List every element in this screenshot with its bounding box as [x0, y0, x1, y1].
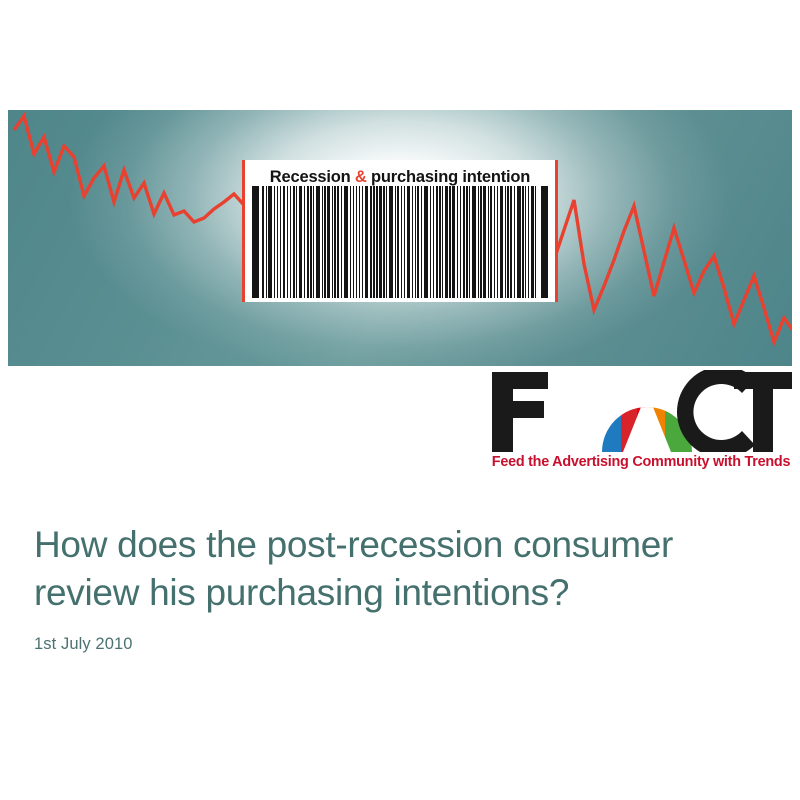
title-block: How does the post-recession consumer rev…: [34, 521, 754, 654]
barcode-bar: [490, 186, 492, 298]
barcode-bar: [510, 186, 512, 298]
barcode-bar: [478, 186, 479, 298]
barcode-bar: [436, 186, 438, 298]
barcode-bar: [379, 186, 382, 298]
barcode-bar: [316, 186, 320, 298]
barcode-bar: [350, 186, 351, 298]
barcode-bar: [517, 186, 521, 298]
barcode-bar: [310, 186, 311, 298]
barcode-bar: [430, 186, 431, 298]
barcode-bar: [322, 186, 323, 298]
barcode-bar: [525, 186, 526, 298]
barcode-bar: [299, 186, 302, 298]
barcode-bar: [337, 186, 339, 298]
barcode-bar: [424, 186, 429, 298]
barcode-bar: [334, 186, 335, 298]
barcode-bar: [480, 186, 481, 298]
barcode-bar: [359, 186, 361, 298]
barcode-bar: [332, 186, 333, 298]
barcode-bar: [313, 186, 314, 298]
barcode-label-ampersand: &: [355, 168, 367, 186]
barcode-bar: [386, 186, 387, 298]
barcode-bar: [417, 186, 419, 298]
barcode-bar: [497, 186, 498, 298]
slide-date: 1st July 2010: [34, 635, 754, 654]
barcode-bar: [500, 186, 503, 298]
fact-logo: Feed the Advertising Community with Tren…: [490, 370, 792, 478]
barcode-bar: [507, 186, 508, 298]
page-title-line-1: How does the post-recession consumer: [34, 524, 673, 565]
barcode-bar: [383, 186, 384, 298]
barcode-bar: [344, 186, 349, 298]
barcode-bar: [449, 186, 450, 298]
barcode-bar: [376, 186, 377, 298]
barcode-bar: [457, 186, 458, 298]
barcode-bar: [472, 186, 476, 298]
logo-letter-f: [492, 372, 548, 452]
barcode-bar: [274, 186, 275, 298]
barcode-bar: [341, 186, 342, 298]
barcode-guard-bar-right: [541, 186, 548, 298]
barcode-bar: [290, 186, 291, 298]
page-title: How does the post-recession consumer rev…: [34, 521, 754, 617]
barcode-bar: [293, 186, 295, 298]
barcode-bar: [415, 186, 416, 298]
barcode-bar: [514, 186, 515, 298]
slide-canvas: Recession & purchasing intention: [0, 0, 800, 800]
barcode-bar: [535, 186, 536, 298]
barcode-bar: [445, 186, 448, 298]
barcode-bar: [460, 186, 461, 298]
barcode-bar: [466, 186, 467, 298]
barcode-bar: [365, 186, 368, 298]
fact-logo-mark: [490, 370, 792, 452]
barcode-bar: [296, 186, 297, 298]
barcode-bar: [469, 186, 470, 298]
barcode-bar: [373, 186, 374, 298]
barcode-bar: [389, 186, 393, 298]
barcode-guard-bar-left: [252, 186, 259, 298]
barcode-bar: [407, 186, 410, 298]
barcode-bar: [327, 186, 330, 298]
barcode-bar: [283, 186, 286, 298]
barcode-label-text: Recession & purchasing intention: [270, 168, 530, 187]
barcode-bar: [262, 186, 264, 298]
barcode-bar: [528, 186, 529, 298]
barcode-bar: [488, 186, 489, 298]
barcode-bar: [452, 186, 455, 298]
barcode-bar: [404, 186, 405, 298]
barcode-bar: [494, 186, 495, 298]
barcode-bar: [401, 186, 402, 298]
barcode-bar: [412, 186, 413, 298]
barcode-bar: [353, 186, 354, 298]
barcode-bar: [304, 186, 305, 298]
barcode-bar: [356, 186, 357, 298]
barcode-bar: [397, 186, 399, 298]
barcode-bar: [268, 186, 272, 298]
barcode-bar: [395, 186, 396, 298]
barcode-bar: [505, 186, 506, 298]
barcode-bar: [287, 186, 288, 298]
page-title-line-2: review his purchasing intentions?: [34, 572, 569, 613]
barcode-bar: [277, 186, 278, 298]
barcode-bar: [439, 186, 440, 298]
barcode-bar: [280, 186, 281, 298]
barcode-bar: [483, 186, 486, 298]
barcode-bar: [362, 186, 363, 298]
barcode-graphic: Recession & purchasing intention: [242, 160, 558, 302]
logo-tagline: Feed the Advertising Community with Tren…: [490, 454, 792, 470]
barcode-bar: [421, 186, 422, 298]
barcode-bar: [266, 186, 267, 298]
barcode-bar: [324, 186, 325, 298]
barcode-bar: [463, 186, 465, 298]
barcode-bars: [250, 186, 550, 298]
barcode-bar: [522, 186, 523, 298]
barcode-bar: [370, 186, 372, 298]
barcode-bar: [531, 186, 534, 298]
barcode-bar: [307, 186, 309, 298]
barcode-bar: [433, 186, 434, 298]
barcode-bar: [442, 186, 443, 298]
